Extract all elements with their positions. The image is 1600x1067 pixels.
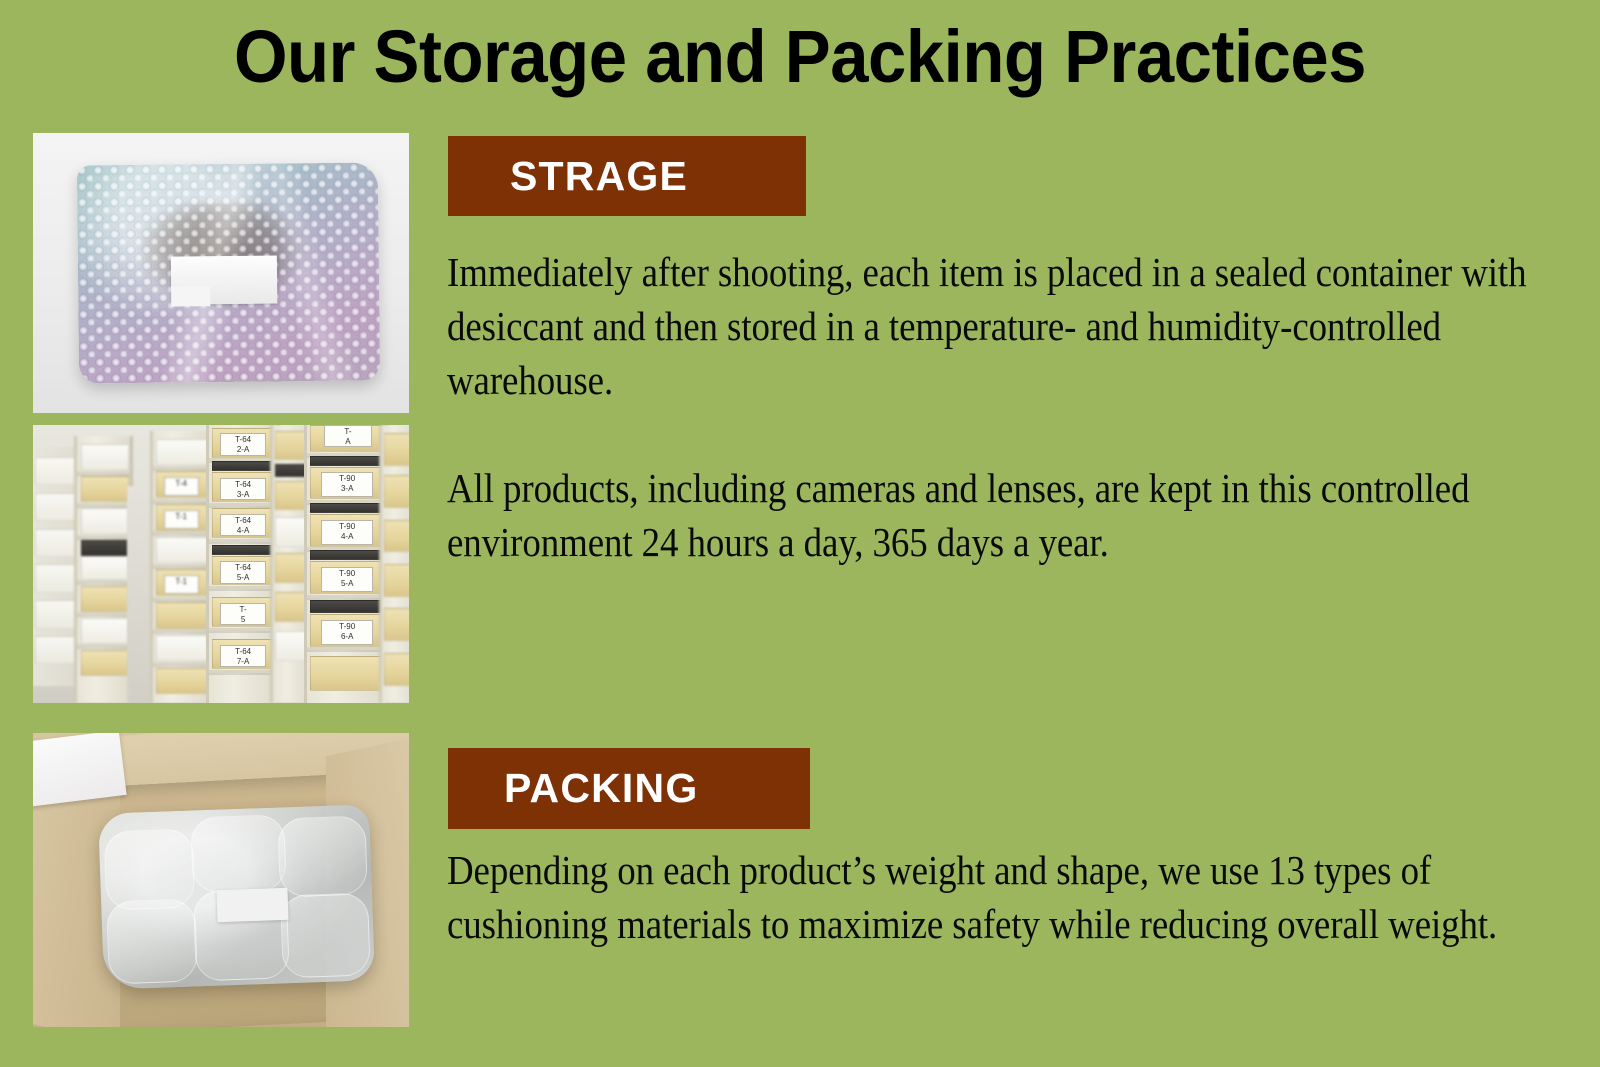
storage-paragraph-2: All products, including cameras and lens… bbox=[447, 461, 1554, 569]
packing-body-text: Depending on each product’s weight and s… bbox=[447, 843, 1572, 951]
far-rack-left bbox=[33, 447, 78, 686]
section-banner-storage-label: STRAGE bbox=[510, 156, 688, 197]
section-banner-packing: PACKING bbox=[448, 748, 810, 829]
parcel-label-secondary bbox=[171, 286, 210, 306]
storage-body-text: Immediately after shooting, each item is… bbox=[447, 245, 1554, 569]
rack-column-1 bbox=[74, 436, 133, 703]
bubble-wrap-parcel bbox=[77, 162, 380, 384]
photo-content bbox=[33, 133, 409, 413]
packed-carton-photo bbox=[33, 733, 409, 1027]
warehouse-shelving-photo: T-4 T-1 T-1 T-642-A bbox=[33, 425, 409, 703]
slide-root: Our Storage and Packing Practices bbox=[0, 0, 1600, 1067]
product-label bbox=[217, 888, 290, 923]
section-banner-storage: STRAGE bbox=[448, 136, 806, 216]
packing-paragraph-1: Depending on each product’s weight and s… bbox=[447, 843, 1572, 951]
bubble-wrapped-item-photo bbox=[33, 133, 409, 413]
packing-slip bbox=[33, 733, 127, 806]
page-title: Our Storage and Packing Practices bbox=[56, 14, 1544, 100]
section-banner-packing-label: PACKING bbox=[504, 768, 698, 809]
rack-column-6 bbox=[379, 425, 409, 703]
rack-column-5: T-A T-903-A T-904-A T-905-A T-906-A bbox=[304, 425, 389, 703]
photo-content: T-4 T-1 T-1 T-642-A bbox=[33, 425, 409, 703]
rack-column-3: T-642-A T-643-A T-644-A T-645-A T-5 T-64… bbox=[206, 425, 280, 703]
storage-paragraph-1: Immediately after shooting, each item is… bbox=[447, 245, 1554, 407]
rack-column-2: T-4 T-1 T-1 bbox=[150, 431, 212, 703]
photo-content bbox=[33, 733, 409, 1027]
